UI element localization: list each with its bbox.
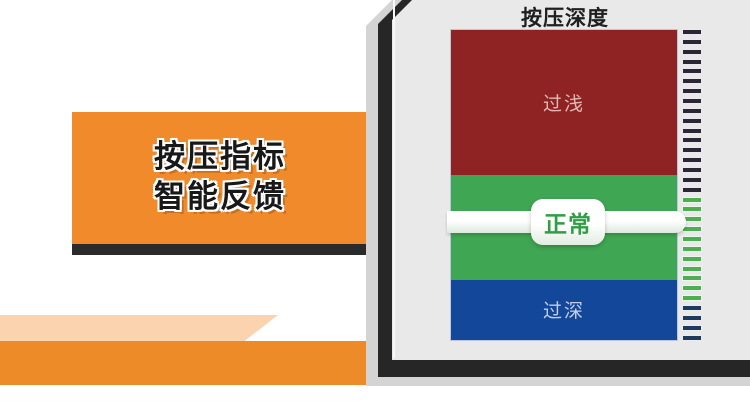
tick-mark [682, 157, 702, 163]
tick-mark [682, 29, 702, 35]
banner-shadow [72, 243, 368, 255]
tick-mark [682, 246, 702, 252]
headline-banner: 按压指标 智能反馈 [72, 112, 368, 244]
depth-status-label: 正常 [544, 205, 592, 239]
left-panel: 按压指标 智能反馈 [0, 0, 400, 410]
depth-gauge: 过浅过深 [450, 29, 678, 341]
tick-mark [682, 275, 702, 281]
tick-mark [682, 49, 702, 55]
tick-mark [682, 335, 702, 341]
tick-mark [682, 226, 702, 232]
tick-mark [682, 206, 702, 212]
tick-mark [682, 325, 702, 331]
infographic-stage: 按压指标 智能反馈 按压深度 过浅过深 正常 [0, 0, 750, 410]
tick-mark [682, 98, 702, 104]
tick-mark [682, 266, 702, 272]
gauge-zone-too-shallow: 过浅 [451, 30, 677, 175]
tick-mark [682, 295, 702, 301]
tick-mark [682, 59, 702, 65]
tick-mark [682, 68, 702, 74]
tick-mark [682, 197, 702, 203]
gauge-zone-label-too-shallow: 过浅 [543, 89, 585, 116]
tick-mark [682, 187, 702, 193]
headline-line-1: 按压指标 [154, 139, 286, 177]
screen-title: 按压深度 [440, 2, 690, 32]
tick-mark [682, 108, 702, 114]
depth-tick-scale [682, 29, 704, 341]
tick-mark [682, 315, 702, 321]
headline-text-group: 按压指标 智能反馈 [72, 112, 368, 244]
tick-mark [682, 236, 702, 242]
headline-line-2: 智能反馈 [154, 179, 286, 217]
tick-mark [682, 147, 702, 153]
tick-mark [682, 128, 702, 134]
tick-mark [682, 118, 702, 124]
gauge-zone-too-deep: 过深 [451, 280, 677, 340]
tick-mark [682, 78, 702, 84]
tick-mark [682, 88, 702, 94]
tick-mark [682, 137, 702, 143]
depth-status-badge[interactable]: 正常 [531, 199, 605, 245]
screen-edge-highlight [393, 0, 395, 358]
tick-mark [682, 305, 702, 311]
tick-mark [682, 177, 702, 183]
tick-mark [682, 167, 702, 173]
tick-mark [682, 256, 702, 262]
decor-bottom-bar [0, 341, 368, 385]
tick-mark [682, 285, 702, 291]
gauge-zone-label-too-deep: 过深 [543, 296, 585, 323]
decor-light-strip [0, 315, 278, 341]
tick-mark [682, 39, 702, 45]
